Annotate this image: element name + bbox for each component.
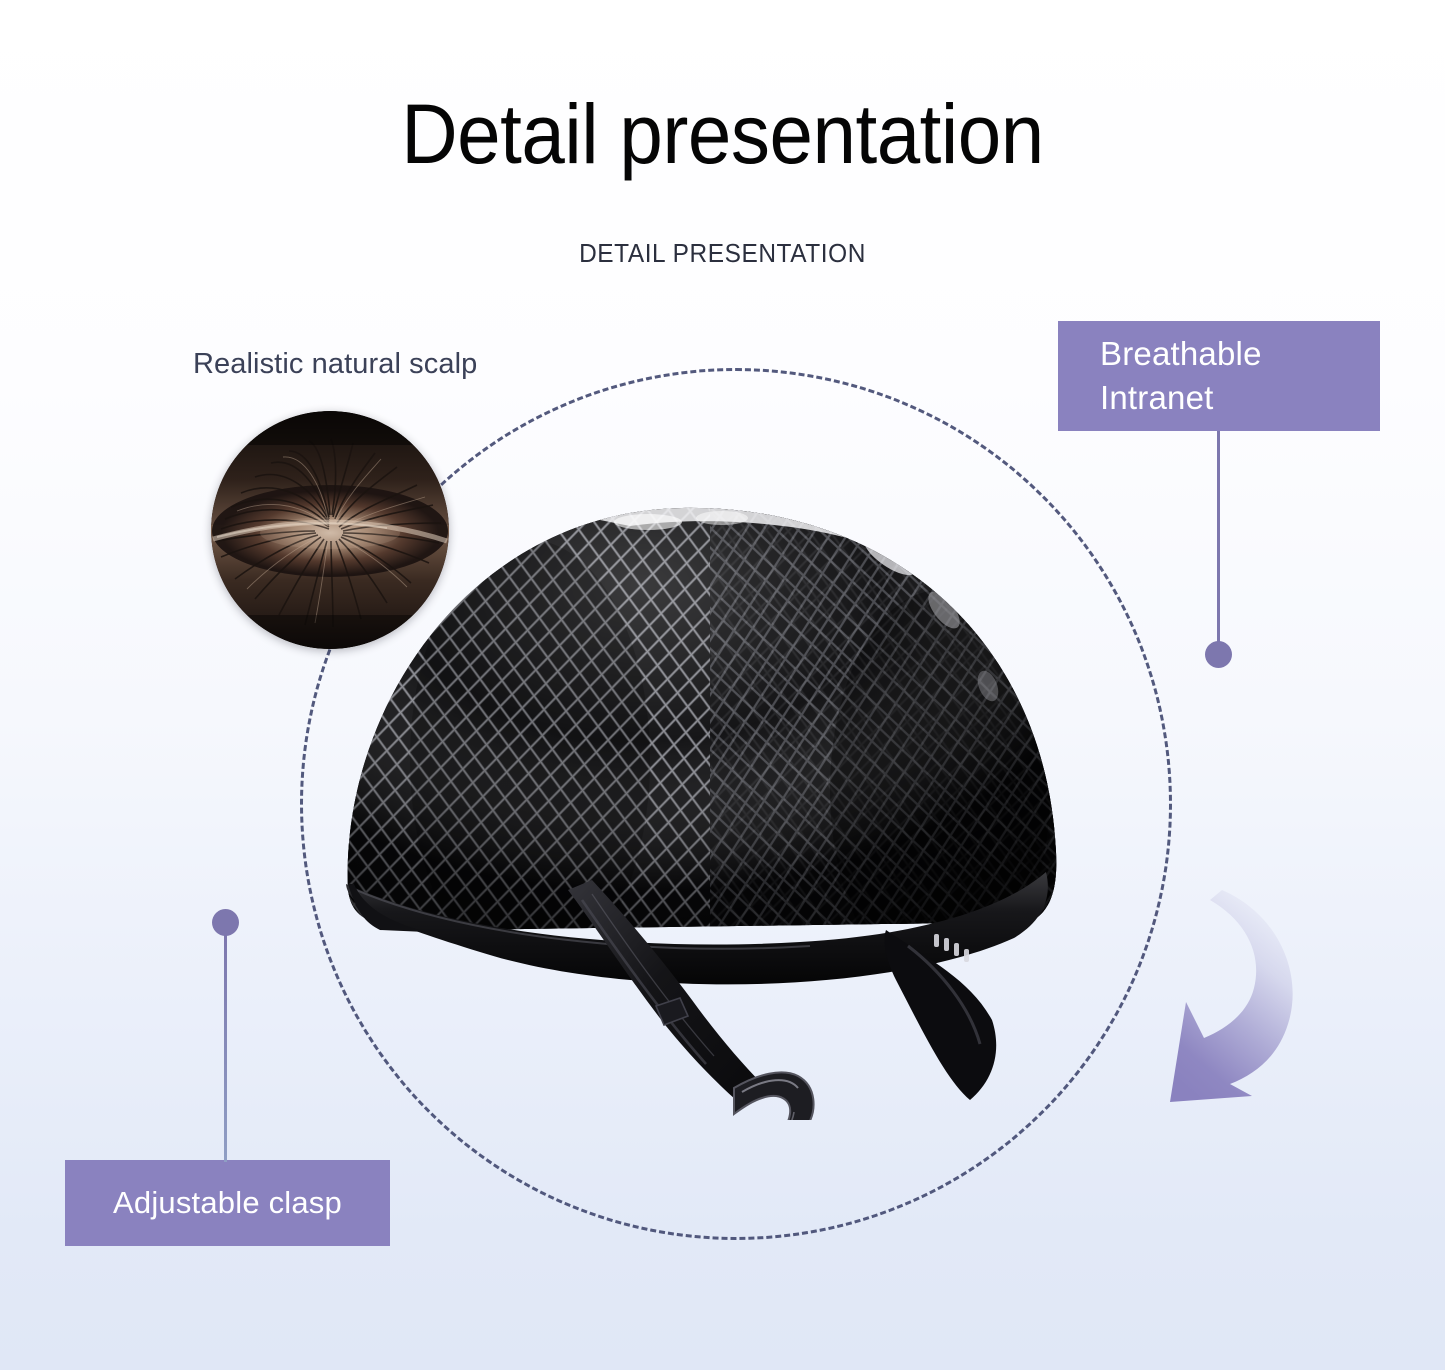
page-subtitle: DETAIL PRESENTATION (43, 238, 1401, 269)
page-title: Detail presentation (51, 86, 1395, 183)
callout-adjustable-clasp[interactable]: Adjustable clasp (65, 1160, 390, 1246)
connector-line-breathable (1217, 431, 1220, 646)
callout-breathable-line1: Breathable (1100, 332, 1262, 376)
connector-line-clasp (224, 933, 227, 1162)
scalp-closeup-inset (211, 411, 449, 649)
detail-presentation-page: Detail presentation DETAIL PRESENTATION (0, 0, 1445, 1370)
scalp-inset-caption: Realistic natural scalp (193, 348, 477, 381)
callout-clasp-label: Adjustable clasp (113, 1185, 342, 1221)
connector-dot-clasp-icon (212, 909, 239, 936)
callout-breathable-line2: Intranet (1100, 376, 1262, 420)
callout-breathable-intranet[interactable]: Breathable Intranet (1058, 321, 1380, 431)
connector-dot-breathable-icon (1205, 641, 1232, 668)
curved-arrow-icon (1148, 888, 1338, 1126)
